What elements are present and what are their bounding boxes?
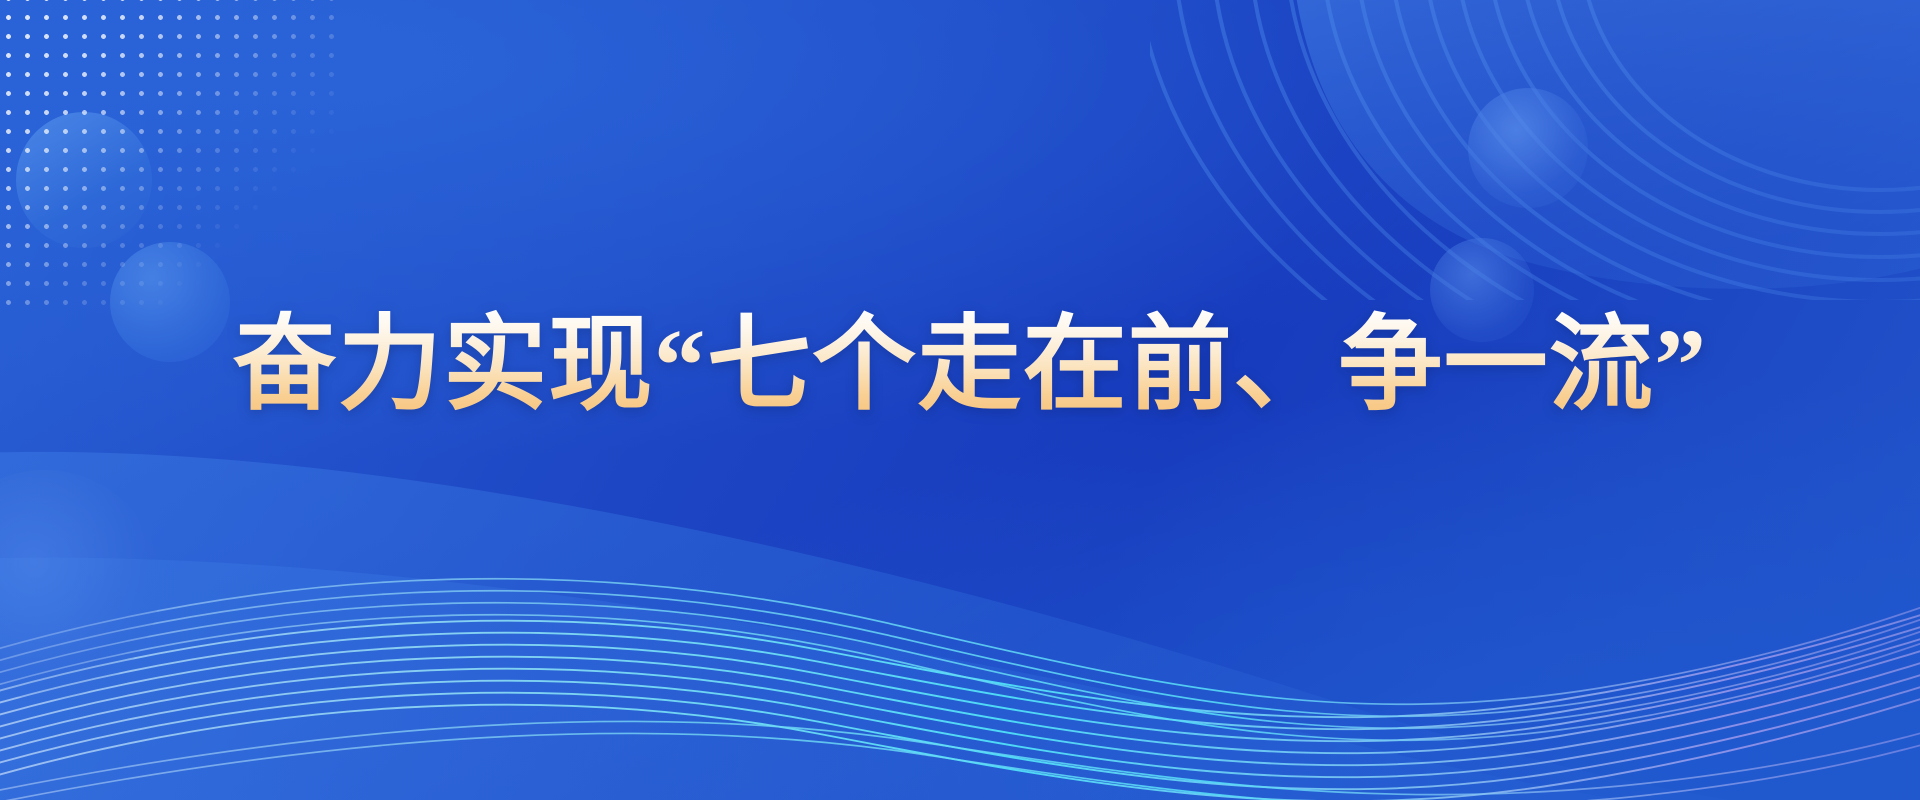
circle-accent-right-upper [1468, 88, 1588, 208]
headline-container: 奋力实现“七个走在前、争一流” [0, 238, 1920, 494]
banner-headline: 奋力实现“七个走在前、争一流” [233, 308, 1708, 424]
banner-canvas: 奋力实现“七个走在前、争一流” [0, 0, 1920, 800]
